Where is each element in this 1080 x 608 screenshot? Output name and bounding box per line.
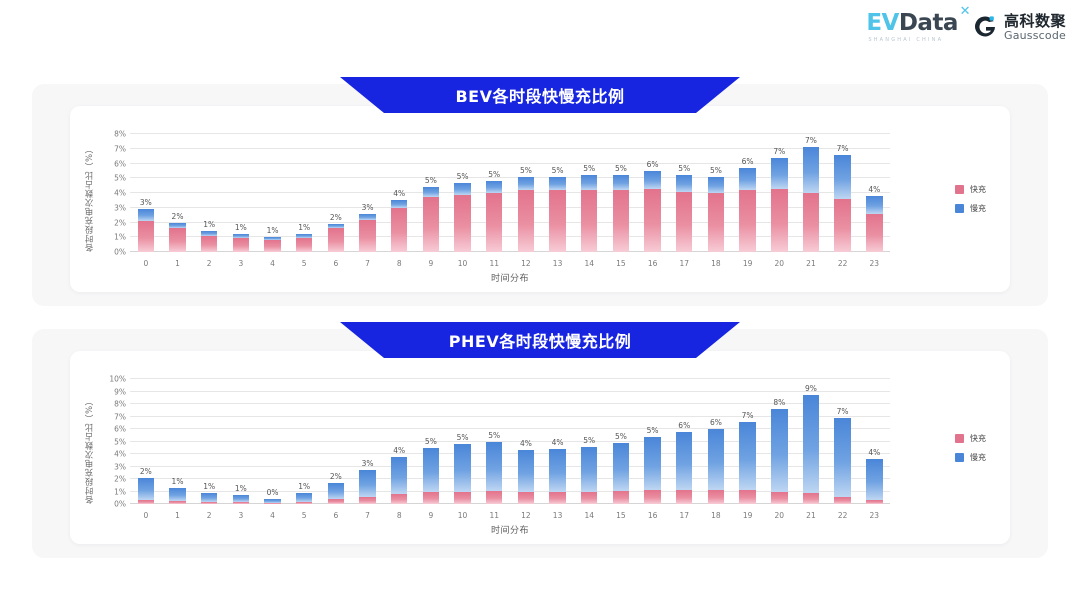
phev-stacked-bar[interactable] (391, 457, 407, 505)
bev-bar-segment-slow (549, 177, 565, 190)
phev-x-tick-label: 9 (415, 511, 447, 520)
phev-bar-slot[interactable]: 2% (130, 379, 162, 504)
bev-x-tick-label: 1 (162, 259, 194, 268)
evdata-ev-text: EV (866, 10, 899, 36)
phev-bar-slot[interactable]: 7% (827, 379, 859, 504)
bev-bar-slot[interactable]: 2% (162, 134, 194, 252)
bev-x-tick-label: 22 (827, 259, 859, 268)
phev-bar-segment-slow (169, 488, 185, 502)
bev-chart-panel: 各时段充电次数占比（%）3%2%1%1%1%1%2%3%4%5%5%5%5%5%… (32, 84, 1048, 306)
phev-bar-slot[interactable]: 5% (447, 379, 479, 504)
evdata-wordmark: EVData✕ (866, 12, 958, 35)
phev-bar-slot[interactable]: 1% (288, 379, 320, 504)
phev-bar-segment-fast (771, 492, 787, 505)
phev-legend-swatch (955, 434, 964, 443)
phev-stacked-bar[interactable] (518, 450, 534, 504)
bev-bar-segment-slow (739, 168, 755, 190)
bev-stacked-bar[interactable] (423, 187, 439, 252)
bev-legend-item[interactable]: 快充 (955, 184, 986, 195)
phev-bar-value-label: 5% (425, 437, 437, 446)
bev-y-tick-label: 2% (114, 218, 126, 227)
phev-bar-segment-slow (708, 429, 724, 490)
phev-bar-segment-fast (486, 491, 502, 504)
phev-bar-segment-fast (581, 492, 597, 505)
phev-legend-label: 快充 (970, 433, 986, 444)
bev-bar-segment-fast (803, 193, 819, 252)
phev-bar-segment-fast (328, 499, 344, 504)
bev-bar-segment-fast (834, 199, 850, 252)
phev-stacked-bar[interactable] (581, 447, 597, 505)
bev-bar-slot[interactable]: 5% (478, 134, 510, 252)
phev-bar-slot[interactable]: 5% (573, 379, 605, 504)
bev-stacked-bar[interactable] (201, 231, 217, 252)
bev-bar-value-label: 5% (457, 172, 469, 181)
bev-x-axis-title: 时间分布 (130, 271, 890, 284)
phev-y-tick-label: 6% (114, 425, 126, 434)
bev-legend-label: 慢充 (970, 203, 986, 214)
bev-bar-segment-slow (771, 158, 787, 189)
phev-bar-value-label: 9% (805, 384, 817, 393)
bev-bar-slot[interactable]: 7% (795, 134, 827, 252)
phev-bar-segment-fast (454, 492, 470, 505)
phev-bar-segment-slow (549, 449, 565, 492)
bev-stacked-bar[interactable] (771, 158, 787, 252)
phev-bar-segment-slow (803, 395, 819, 493)
phev-bar-segment-slow (771, 409, 787, 492)
phev-bar-value-label: 6% (678, 421, 690, 430)
bev-bar-segment-slow (138, 209, 154, 221)
phev-stacked-bar[interactable] (296, 493, 312, 504)
phev-bar-segment-slow (296, 493, 312, 502)
phev-stacked-bar[interactable] (201, 493, 217, 504)
bev-bar-slot[interactable]: 4% (858, 134, 890, 252)
bev-legend-label: 快充 (970, 184, 986, 195)
phev-bar-value-label: 5% (647, 426, 659, 435)
phev-bar-segment-fast (169, 501, 185, 504)
phev-x-tick-label: 10 (447, 511, 479, 520)
phev-bar-slot[interactable]: 5% (415, 379, 447, 504)
phev-legend-item[interactable]: 慢充 (955, 452, 986, 463)
bev-y-tick-label: 8% (114, 130, 126, 139)
phev-stacked-bar[interactable] (803, 395, 819, 504)
bev-bar-segment-fast (454, 195, 470, 253)
bev-bar-segment-slow (581, 175, 597, 190)
phev-bar-segment-slow (866, 459, 882, 500)
phev-y-tick-label: 1% (114, 487, 126, 496)
bev-x-tick-label: 15 (605, 259, 637, 268)
phev-x-tick-label: 5 (288, 511, 320, 520)
bev-stacked-bar[interactable] (264, 237, 280, 252)
phev-bar-segment-fast (834, 497, 850, 505)
bev-bar-segment-fast (739, 190, 755, 252)
bev-x-tick-label: 21 (795, 259, 827, 268)
phev-bar-segment-fast (549, 492, 565, 504)
bev-x-tick-label: 6 (320, 259, 352, 268)
bev-bar-slot[interactable]: 5% (573, 134, 605, 252)
phev-bar-slot[interactable]: 4% (383, 379, 415, 504)
bev-bar-slot[interactable]: 2% (320, 134, 352, 252)
phev-stacked-bar[interactable] (771, 409, 787, 504)
bev-x-tick-label: 2 (193, 259, 225, 268)
phev-stacked-bar[interactable] (739, 422, 755, 505)
bev-stacked-bar[interactable] (644, 171, 660, 252)
phev-bar-slot[interactable]: 7% (732, 379, 764, 504)
bev-chart: 各时段充电次数占比（%）3%2%1%1%1%1%2%3%4%5%5%5%5%5%… (70, 106, 1010, 292)
bev-bar-segment-fast (359, 220, 375, 252)
phev-stacked-bar[interactable] (423, 448, 439, 504)
bev-bar-slot[interactable]: 7% (763, 134, 795, 252)
phev-legend-swatch (955, 453, 964, 462)
bev-bar-slot[interactable]: 5% (415, 134, 447, 252)
phev-bar-value-label: 7% (742, 411, 754, 420)
bev-bar-segment-slow (834, 155, 850, 199)
bev-bar-segment-slow (866, 196, 882, 214)
phev-bar-value-label: 5% (488, 431, 500, 440)
phev-x-tick-label: 7 (352, 511, 384, 520)
bev-bar-segment-fast (486, 193, 502, 252)
bev-stacked-bar[interactable] (233, 234, 249, 252)
bev-bar-slot[interactable]: 6% (732, 134, 764, 252)
phev-bar-slot[interactable]: 8% (763, 379, 795, 504)
phev-stacked-bar[interactable] (486, 442, 502, 505)
bev-x-tick-label: 16 (637, 259, 669, 268)
bev-x-tick-label: 11 (478, 259, 510, 268)
bev-bar-value-label: 2% (172, 212, 184, 221)
bev-stacked-bar[interactable] (518, 177, 534, 252)
bev-x-tick-label: 19 (732, 259, 764, 268)
phev-bar-slot[interactable]: 1% (193, 379, 225, 504)
phev-bar-segment-slow (454, 444, 470, 492)
bev-y-tick-label: 5% (114, 174, 126, 183)
phev-stacked-bar[interactable] (233, 495, 249, 504)
bev-x-axis-ticks: 01234567891011121314151617181920212223 (130, 259, 890, 268)
phev-chart: 各时段充电次数占比（%）2%1%1%1%0%1%2%3%4%5%5%5%4%4%… (70, 351, 1010, 544)
bev-bar-slot[interactable]: 4% (383, 134, 415, 252)
bev-x-tick-label: 3 (225, 259, 257, 268)
phev-x-tick-label: 3 (225, 511, 257, 520)
bev-bar-slot[interactable]: 1% (225, 134, 257, 252)
bev-y-axis-title: 各时段充电次数占比（%） (84, 134, 96, 252)
bev-x-tick-label: 9 (415, 259, 447, 268)
bev-x-tick-label: 4 (257, 259, 289, 268)
evdata-x-icon: ✕ (960, 5, 970, 18)
phev-legend-label: 慢充 (970, 452, 986, 463)
phev-y-tick-label: 5% (114, 437, 126, 446)
phev-x-tick-label: 2 (193, 511, 225, 520)
phev-x-tick-label: 1 (162, 511, 194, 520)
phev-stacked-bar[interactable] (138, 478, 154, 504)
bev-stacked-bar[interactable] (803, 147, 819, 252)
phev-bar-slot[interactable]: 0% (257, 379, 289, 504)
phev-bar-segment-slow (359, 470, 375, 496)
phev-bar-segment-fast (518, 492, 534, 504)
bev-bar-slot[interactable]: 1% (193, 134, 225, 252)
bev-stacked-bar[interactable] (138, 209, 154, 252)
bev-bar-slot[interactable]: 5% (510, 134, 542, 252)
bev-x-tick-label: 5 (288, 259, 320, 268)
phev-x-tick-label: 11 (478, 511, 510, 520)
phev-bar-value-label: 4% (552, 438, 564, 447)
phev-bar-segment-slow (613, 443, 629, 491)
phev-bar-slot[interactable]: 4% (510, 379, 542, 504)
phev-x-tick-label: 0 (130, 511, 162, 520)
bev-stacked-bar[interactable] (454, 183, 470, 252)
bev-bar-slot[interactable]: 3% (130, 134, 162, 252)
bev-bar-segment-fast (328, 228, 344, 252)
bev-bar-slot[interactable]: 5% (542, 134, 574, 252)
phev-bar-slot[interactable]: 1% (225, 379, 257, 504)
phev-stacked-bar[interactable] (359, 470, 375, 504)
bev-bar-slot[interactable]: 1% (257, 134, 289, 252)
bev-stacked-bar[interactable] (328, 224, 344, 252)
bev-x-tick-label: 0 (130, 259, 162, 268)
bev-legend-swatch (955, 204, 964, 213)
phev-stacked-bar[interactable] (169, 488, 185, 504)
bev-x-tick-label: 7 (352, 259, 384, 268)
phev-x-tick-label: 22 (827, 511, 859, 520)
evdata-data-text: Data (899, 10, 958, 36)
phev-bar-value-label: 5% (457, 433, 469, 442)
bev-x-tick-label: 20 (763, 259, 795, 268)
phev-bar-slot[interactable]: 6% (668, 379, 700, 504)
bev-stacked-bar[interactable] (391, 200, 407, 252)
phev-bar-slot[interactable]: 4% (542, 379, 574, 504)
bev-stacked-bar[interactable] (359, 214, 375, 252)
bev-stacked-bar[interactable] (866, 196, 882, 252)
bev-legend: 快充慢充 (955, 184, 986, 214)
bev-bar-segment-fast (771, 189, 787, 252)
bev-bar-value-label: 5% (425, 176, 437, 185)
bev-bar-slot[interactable]: 5% (668, 134, 700, 252)
phev-stacked-bar[interactable] (613, 443, 629, 504)
phev-bar-segment-fast (233, 502, 249, 504)
bev-bar-segment-fast (264, 240, 280, 252)
phev-bar-slot[interactable]: 2% (320, 379, 352, 504)
phev-y-tick-label: 3% (114, 462, 126, 471)
phev-legend: 快充慢充 (955, 433, 986, 463)
phev-bar-segment-fast (803, 493, 819, 504)
bev-chart-title-ribbon: BEV各时段快慢充比例 (340, 77, 740, 113)
bev-bar-segment-slow (708, 177, 724, 193)
bev-y-tick-label: 0% (114, 248, 126, 257)
phev-bar-slot[interactable]: 5% (478, 379, 510, 504)
phev-bar-slot[interactable]: 5% (605, 379, 637, 504)
phev-bar-value-label: 7% (837, 407, 849, 416)
phev-bar-value-label: 2% (140, 467, 152, 476)
phev-stacked-bar[interactable] (834, 418, 850, 504)
gausscode-logo-icon (972, 14, 998, 40)
bev-bar-slot[interactable]: 6% (637, 134, 669, 252)
phev-bar-segment-slow (834, 418, 850, 497)
phev-bar-segment-slow (201, 493, 217, 502)
gausscode-en-name: Gausscode (1004, 30, 1066, 42)
phev-stacked-bar[interactable] (264, 499, 280, 504)
phev-x-tick-label: 23 (858, 511, 890, 520)
bev-bar-segment-fast (866, 214, 882, 252)
phev-bar-segment-slow (739, 422, 755, 491)
bev-bar-segment-slow (518, 177, 534, 190)
phev-y-tick-label: 2% (114, 475, 126, 484)
phev-x-tick-label: 13 (542, 511, 574, 520)
bev-bar-value-label: 5% (552, 166, 564, 175)
phev-bar-slot[interactable]: 1% (162, 379, 194, 504)
phev-bar-slot[interactable]: 3% (352, 379, 384, 504)
bev-bar-value-label: 7% (773, 147, 785, 156)
bev-x-tick-label: 17 (668, 259, 700, 268)
phev-x-tick-label: 14 (573, 511, 605, 520)
bev-bar-slot[interactable]: 5% (605, 134, 637, 252)
bev-bar-value-label: 7% (837, 144, 849, 153)
phev-bar-segment-slow (138, 478, 154, 500)
evdata-logo: EVData✕ SHANGHAI CHINA (866, 12, 958, 43)
bev-chart-card: 各时段充电次数占比（%）3%2%1%1%1%1%2%3%4%5%5%5%5%5%… (70, 106, 1010, 292)
bev-x-tick-label: 10 (447, 259, 479, 268)
bev-bar-slot[interactable]: 5% (700, 134, 732, 252)
bev-bar-slot[interactable]: 7% (827, 134, 859, 252)
phev-bar-segment-slow (328, 483, 344, 499)
phev-bar-value-label: 4% (868, 448, 880, 457)
bev-stacked-bar[interactable] (834, 155, 850, 252)
bev-bar-segment-slow (486, 181, 502, 193)
phev-bar-slot[interactable]: 9% (795, 379, 827, 504)
bev-stacked-bar[interactable] (708, 177, 724, 252)
phev-bar-segment-slow (423, 448, 439, 492)
phev-bar-segment-slow (644, 437, 660, 491)
phev-bar-segment-slow (233, 495, 249, 502)
bev-stacked-bar[interactable] (676, 175, 692, 252)
phev-stacked-bar[interactable] (549, 449, 565, 504)
phev-stacked-bar[interactable] (866, 459, 882, 504)
phev-bar-segment-fast (296, 502, 312, 504)
bev-stacked-bar[interactable] (739, 168, 755, 252)
bev-bar-segment-slow (803, 147, 819, 193)
phev-bar-segment-fast (644, 490, 660, 504)
phev-bar-segment-fast (201, 502, 217, 504)
phev-bar-slot[interactable]: 5% (637, 379, 669, 504)
bev-bar-segment-slow (454, 183, 470, 195)
bev-bar-value-label: 6% (647, 160, 659, 169)
phev-bar-segment-fast (391, 494, 407, 504)
bev-bar-segment-fast (708, 193, 724, 252)
phev-bar-segment-fast (613, 491, 629, 504)
phev-x-tick-label: 20 (763, 511, 795, 520)
phev-bar-slot[interactable]: 6% (700, 379, 732, 504)
phev-bar-value-label: 0% (267, 488, 279, 497)
phev-x-tick-label: 16 (637, 511, 669, 520)
bev-bar-slot[interactable]: 3% (352, 134, 384, 252)
phev-stacked-bar[interactable] (676, 432, 692, 505)
phev-x-tick-label: 4 (257, 511, 289, 520)
bev-bar-segment-fast (423, 197, 439, 252)
phev-bar-segment-fast (264, 503, 280, 504)
phev-stacked-bar[interactable] (644, 437, 660, 505)
phev-stacked-bar[interactable] (328, 483, 344, 504)
bev-bar-value-label: 1% (235, 223, 247, 232)
phev-stacked-bar[interactable] (454, 444, 470, 504)
phev-bar-value-label: 5% (583, 436, 595, 445)
phev-bar-segment-fast (866, 500, 882, 504)
phev-bar-segment-fast (676, 490, 692, 504)
bev-stacked-bar[interactable] (296, 234, 312, 252)
bev-bar-value-label: 3% (362, 203, 374, 212)
phev-x-tick-label: 19 (732, 511, 764, 520)
phev-bar-value-label: 1% (203, 482, 215, 491)
bev-bar-segment-fast (169, 228, 185, 252)
phev-legend-item[interactable]: 快充 (955, 433, 986, 444)
phev-bar-value-label: 1% (235, 484, 247, 493)
phev-bar-segment-slow (581, 447, 597, 492)
phev-bar-value-label: 5% (615, 432, 627, 441)
phev-bar-slot[interactable]: 4% (858, 379, 890, 504)
bev-bar-value-label: 5% (678, 164, 690, 173)
phev-y-tick-label: 9% (114, 387, 126, 396)
bev-y-tick-label: 6% (114, 159, 126, 168)
phev-bar-value-label: 3% (362, 459, 374, 468)
phev-x-axis-title: 时间分布 (130, 523, 890, 536)
phev-bar-segment-fast (708, 490, 724, 504)
bev-bar-segment-fast (613, 190, 629, 252)
bev-bar-value-label: 5% (520, 166, 532, 175)
bev-bar-value-label: 6% (742, 157, 754, 166)
bev-bar-value-label: 1% (267, 226, 279, 235)
phev-plot-area: 2%1%1%1%0%1%2%3%4%5%5%5%4%4%5%5%5%6%6%7%… (130, 379, 890, 504)
bev-bar-segment-slow (423, 187, 439, 197)
phev-y-tick-label: 0% (114, 500, 126, 509)
bev-legend-item[interactable]: 慢充 (955, 203, 986, 214)
bev-bar-slot[interactable]: 5% (447, 134, 479, 252)
phev-y-axis-title: 各时段充电次数占比（%） (84, 379, 96, 504)
phev-x-tick-label: 6 (320, 511, 352, 520)
bev-bar-segment-fast (138, 221, 154, 252)
phev-stacked-bar[interactable] (708, 429, 724, 504)
phev-bar-segment-fast (359, 497, 375, 505)
phev-chart-title-ribbon: PHEV各时段快慢充比例 (340, 322, 740, 358)
bev-x-tick-label: 8 (383, 259, 415, 268)
bev-bar-value-label: 4% (868, 185, 880, 194)
bev-stacked-bar[interactable] (549, 177, 565, 252)
bev-y-tick-label: 1% (114, 233, 126, 242)
bev-bar-value-label: 7% (805, 136, 817, 145)
bev-x-tick-label: 14 (573, 259, 605, 268)
phev-bar-segment-slow (518, 450, 534, 492)
bev-stacked-bar[interactable] (169, 223, 185, 253)
bev-stacked-bar[interactable] (486, 181, 502, 252)
bev-stacked-bar[interactable] (613, 175, 629, 252)
bev-bar-slot[interactable]: 1% (288, 134, 320, 252)
bev-bar-segment-fast (549, 190, 565, 252)
phev-bar-segment-slow (486, 442, 502, 491)
phev-bar-value-label: 1% (298, 482, 310, 491)
bev-bar-segment-fast (518, 190, 534, 252)
phev-x-tick-label: 15 (605, 511, 637, 520)
brand-header: EVData✕ SHANGHAI CHINA 高科数聚 Gausscode (866, 12, 1066, 43)
gausscode-logo: 高科数聚 Gausscode (972, 14, 1066, 41)
phev-x-tick-label: 21 (795, 511, 827, 520)
bev-bar-segment-slow (613, 175, 629, 190)
bev-x-tick-label: 18 (700, 259, 732, 268)
phev-x-axis-ticks: 01234567891011121314151617181920212223 (130, 511, 890, 520)
phev-y-tick-label: 4% (114, 450, 126, 459)
bev-bar-segment-fast (201, 236, 217, 252)
phev-bar-value-label: 2% (330, 472, 342, 481)
gausscode-cn-name: 高科数聚 (1004, 14, 1066, 30)
phev-y-tick-label: 8% (114, 400, 126, 409)
bev-bar-segment-slow (644, 171, 660, 189)
phev-y-axis-ticks: 0%1%2%3%4%5%6%7%8%9%10% (96, 379, 126, 504)
phev-chart-panel: 各时段充电次数占比（%）2%1%1%1%0%1%2%3%4%5%5%5%4%4%… (32, 329, 1048, 558)
phev-y-tick-label: 10% (109, 375, 126, 384)
bev-stacked-bar[interactable] (581, 175, 597, 252)
